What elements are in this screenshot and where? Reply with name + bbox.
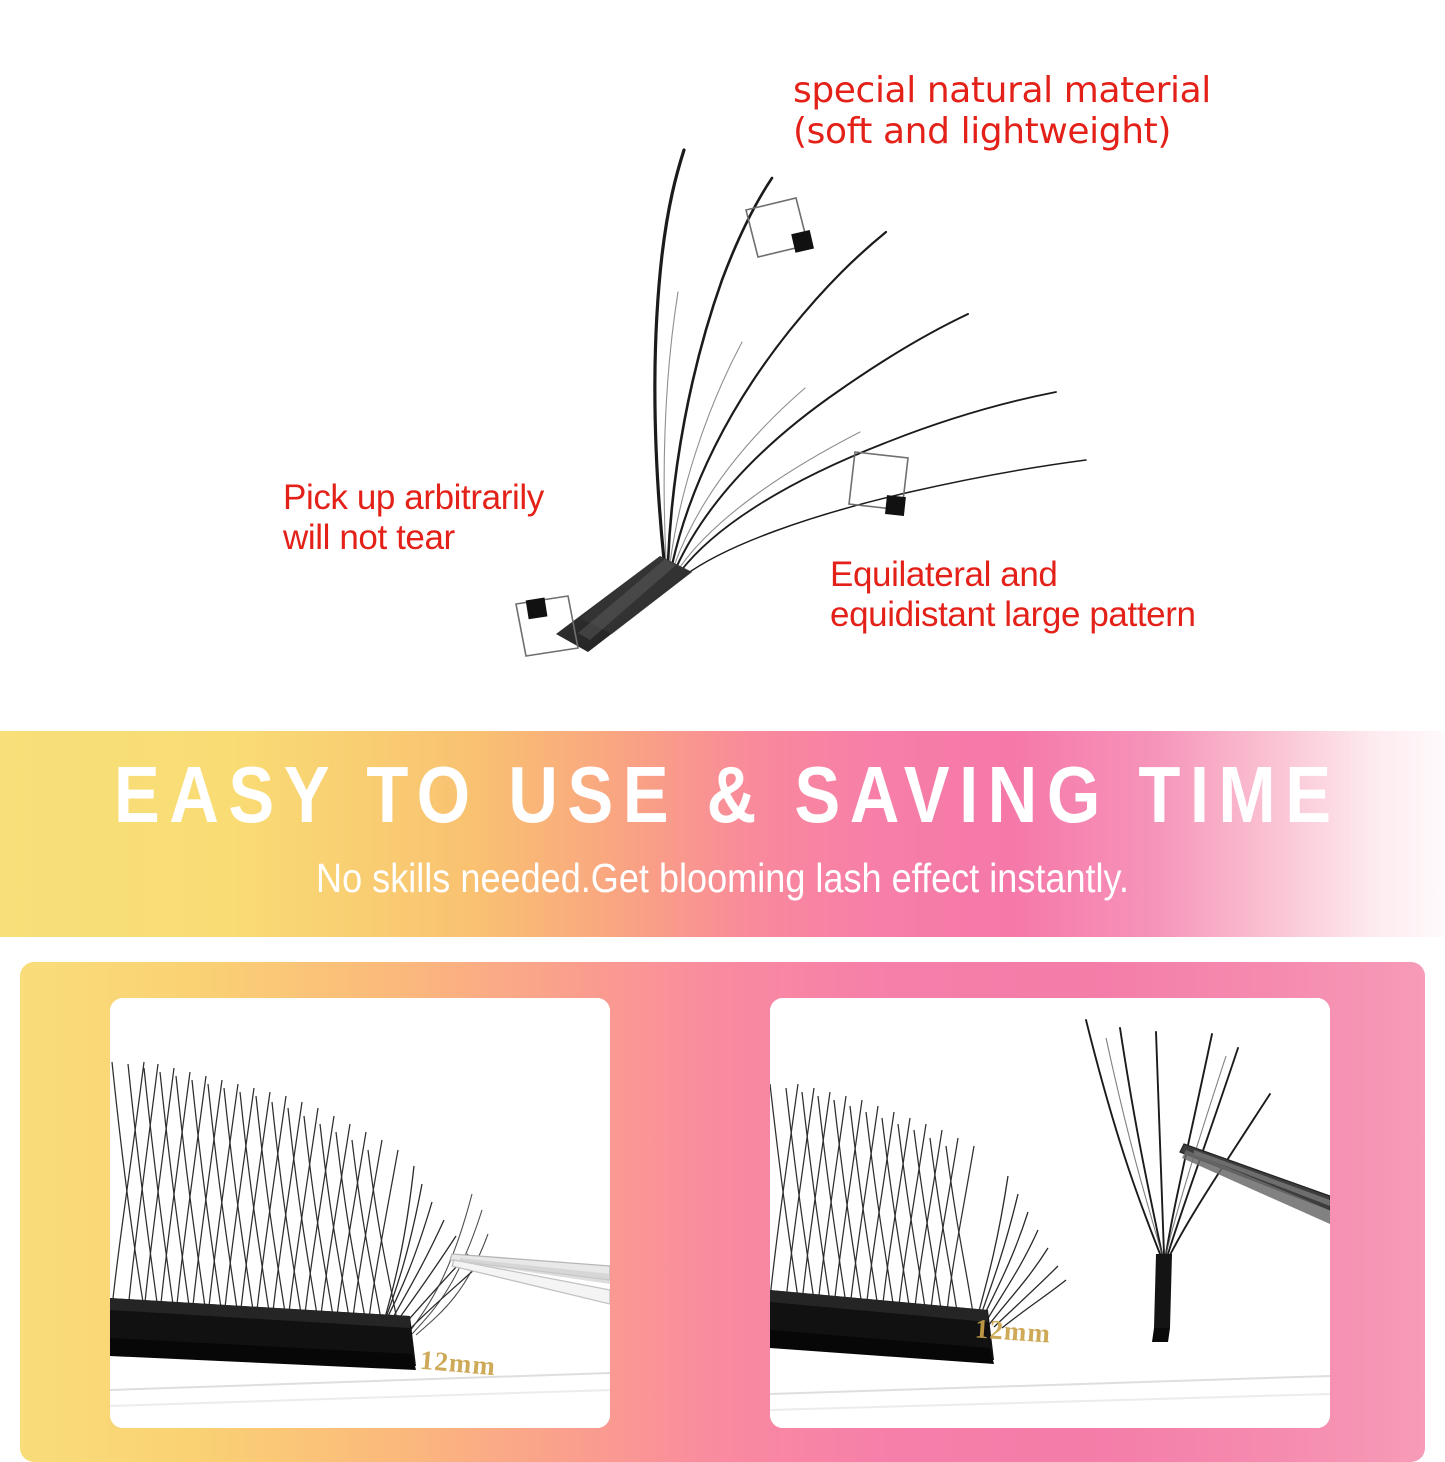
lash-tray-photo xyxy=(110,998,610,1428)
promo-banner: EASY TO USE & SAVING TIME No skills need… xyxy=(0,731,1445,937)
photo-card-lash-fan: 12mm xyxy=(770,998,1330,1428)
banner-headline: EASY TO USE & SAVING TIME xyxy=(101,755,1344,835)
photo-card-lash-tray: 12mm xyxy=(110,998,610,1428)
lash-fan-diagram xyxy=(0,0,1445,730)
lash-fibers-secondary xyxy=(664,292,860,570)
lash-length-label-right: 12mm xyxy=(974,1313,1052,1349)
callout-marker-material xyxy=(746,198,814,257)
lash-fibers xyxy=(655,150,1086,576)
callout-label-pick-up: Pick up arbitrarily will not tear xyxy=(283,478,544,558)
callout-marker-pattern xyxy=(849,452,908,516)
lash-length-label-left: 12mm xyxy=(419,1345,497,1383)
lash-diagram-section: special natural material (soft and light… xyxy=(0,0,1445,730)
banner-subtitle: No skills needed.Get blooming lash effec… xyxy=(87,856,1359,901)
callout-label-material: special natural material (soft and light… xyxy=(793,70,1211,152)
lash-fan-photo xyxy=(770,998,1330,1428)
callout-label-pattern: Equilateral and equidistant large patter… xyxy=(830,555,1196,635)
product-photo-panel: 12mm xyxy=(20,962,1425,1462)
